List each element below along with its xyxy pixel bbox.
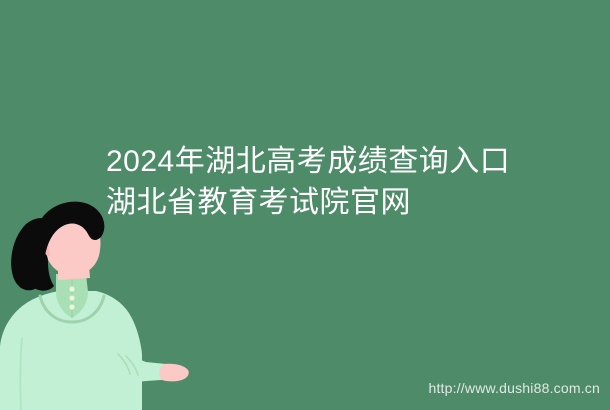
button-bottom <box>69 304 74 309</box>
title-line-1: 2024年湖北高考成绩查询入口 <box>106 141 546 182</box>
poster-canvas: 2024年湖北高考成绩查询入口 湖北省教育考试院官网 http://www.du… <box>0 0 610 410</box>
button-top <box>69 286 74 291</box>
hand <box>159 364 189 382</box>
title-line-2: 湖北省教育考试院官网 <box>106 182 546 223</box>
poster-title: 2024年湖北高考成绩查询入口 湖北省教育考试院官网 <box>106 141 546 223</box>
person-illustration <box>0 196 200 410</box>
button-middle <box>69 295 74 300</box>
watermark-url: http://www.dushi88.com.cn <box>428 380 600 396</box>
